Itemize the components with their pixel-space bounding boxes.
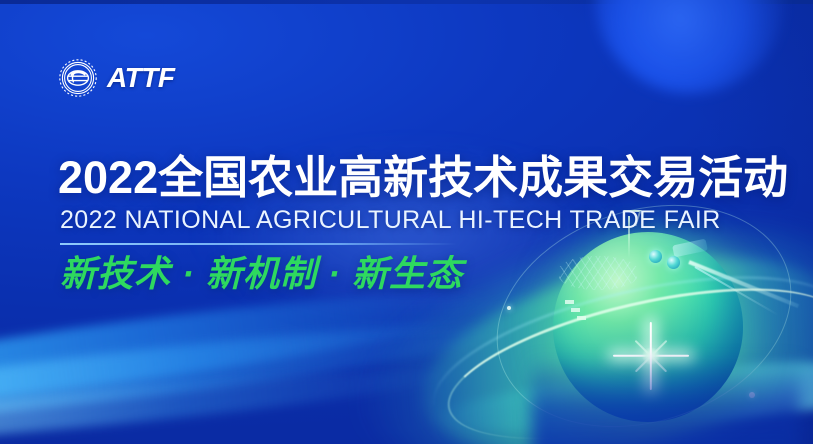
page-title: 2022全国农业高新技术成果交易活动 [58,152,778,204]
divider [60,243,457,245]
tagline: 新技术 · 新机制 · 新生态 [60,252,580,296]
promotional-banner: ATTF 2022全国农业高新技术成果交易活动 2022 NATIONAL AG… [0,0,813,444]
page-subtitle: 2022 NATIONAL AGRICULTURAL HI-TECH TRADE… [60,205,790,235]
attf-logo: ATTF [58,58,174,98]
attf-gear-emblem-icon [58,58,98,98]
attf-logo-text: ATTF [107,62,174,94]
